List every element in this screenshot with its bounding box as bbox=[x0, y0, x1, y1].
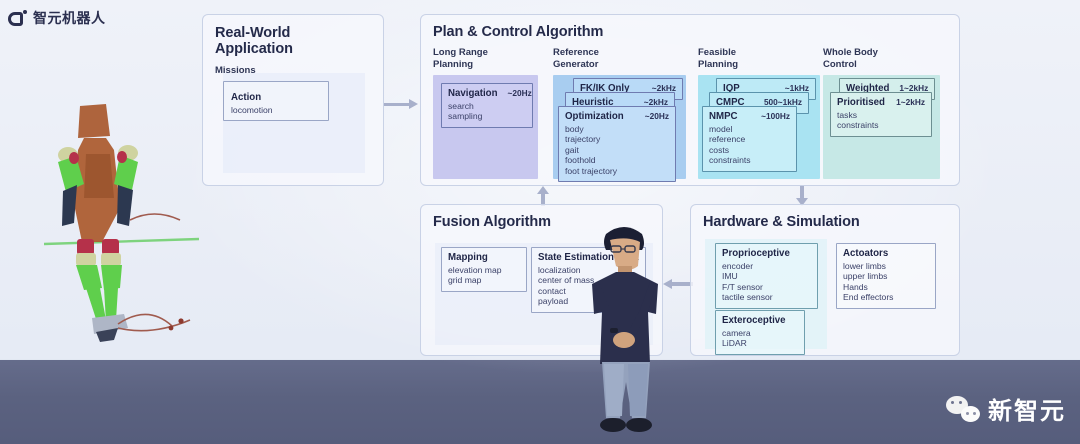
box-hz-prioritised: 1~2kHz bbox=[886, 97, 925, 107]
list-item: upper limbs bbox=[843, 271, 929, 281]
list-item: Hands bbox=[843, 282, 929, 292]
box-action[interactable]: Action locomotion bbox=[223, 81, 329, 121]
list-item: End effectors bbox=[843, 292, 929, 302]
panel-real-world-application: Real-World Application Missions Action l… bbox=[202, 14, 384, 186]
box-items-navigation: search sampling bbox=[448, 101, 526, 122]
box-items-mapping: elevation map grid map bbox=[448, 265, 520, 286]
box-hz-navigation: ~20Hz bbox=[498, 88, 532, 98]
panel-title-plan-control: Plan & Control Algorithm bbox=[433, 24, 947, 40]
box-items-exteroceptive: camera LiDAR bbox=[722, 328, 798, 349]
column-label-reference-generator: Reference Generator bbox=[553, 47, 599, 70]
wechat-icon bbox=[946, 396, 980, 422]
brand-logo: 智元机器人 bbox=[8, 8, 106, 28]
list-item: model bbox=[709, 124, 790, 134]
logo-mark-icon bbox=[8, 11, 27, 26]
list-item: gait bbox=[565, 145, 669, 155]
panel-plan-control-algorithm: Plan & Control Algorithm Long Range Plan… bbox=[420, 14, 960, 186]
column-label-feasible-planning: Feasible Planning bbox=[698, 47, 738, 70]
list-item: tasks bbox=[837, 110, 925, 120]
box-nmpc[interactable]: NMPC ~100Hz model reference costs constr… bbox=[702, 106, 797, 172]
list-item: trajectory bbox=[565, 134, 669, 144]
box-title-action: Action bbox=[231, 92, 261, 103]
list-item: sampling bbox=[448, 111, 526, 121]
humanoid-robot-illustration bbox=[44, 92, 199, 342]
list-item: constraints bbox=[709, 155, 790, 165]
list-item: constraints bbox=[837, 120, 925, 130]
box-hz-optimization: ~20Hz bbox=[635, 111, 669, 121]
list-item: lower limbs bbox=[843, 261, 929, 271]
box-title-actoators: Actoators bbox=[843, 248, 888, 259]
list-item: reference bbox=[709, 134, 790, 144]
list-item: LiDAR bbox=[722, 338, 798, 348]
box-mapping[interactable]: Mapping elevation map grid map bbox=[441, 247, 527, 292]
list-item: costs bbox=[709, 145, 790, 155]
box-items-action: locomotion bbox=[231, 105, 321, 115]
list-item: IMU bbox=[722, 271, 811, 281]
box-hz-nmpc: ~100Hz bbox=[751, 111, 790, 121]
brand-name: 智元机器人 bbox=[33, 8, 106, 28]
list-item: foot trajectory bbox=[565, 166, 669, 176]
box-title-proprioceptive: Proprioceptive bbox=[722, 248, 790, 259]
box-title-mapping: Mapping bbox=[448, 252, 488, 263]
list-item: tactile sensor bbox=[722, 292, 811, 302]
panel-title-hardware: Hardware & Simulation bbox=[703, 214, 947, 230]
box-exteroceptive[interactable]: Exteroceptive camera LiDAR bbox=[715, 310, 805, 355]
box-items-optimization: body trajectory gait foothold foot traje… bbox=[565, 124, 669, 176]
presentation-stage: 智元机器人 bbox=[0, 0, 1080, 444]
list-item: elevation map bbox=[448, 265, 520, 275]
watermark-text: 新智元 bbox=[988, 391, 1066, 426]
box-title-navigation: Navigation bbox=[448, 88, 498, 99]
wechat-watermark: 新智元 bbox=[946, 391, 1066, 426]
panel-hardware-simulation: Hardware & Simulation Proprioceptive enc… bbox=[690, 204, 960, 356]
list-item: F/T sensor bbox=[722, 282, 811, 292]
box-prioritised[interactable]: Prioritised 1~2kHz tasks constraints bbox=[830, 92, 932, 137]
list-item: foothold bbox=[565, 155, 669, 165]
list-item: grid map bbox=[448, 275, 520, 285]
box-actoators[interactable]: Actoators lower limbs upper limbs Hands … bbox=[836, 243, 936, 309]
box-items-proprioceptive: encoder IMU F/T sensor tactile sensor bbox=[722, 261, 811, 303]
column-label-whole-body-control: Whole Body Control bbox=[823, 47, 878, 70]
list-item: locomotion bbox=[231, 105, 321, 115]
column-label-long-range-planning: Long Range Planning bbox=[433, 47, 488, 70]
list-item: search bbox=[448, 101, 526, 111]
box-title-nmpc: NMPC bbox=[709, 111, 738, 122]
box-items-prioritised: tasks constraints bbox=[837, 110, 925, 131]
box-items-actoators: lower limbs upper limbs Hands End effect… bbox=[843, 261, 929, 303]
box-proprioceptive[interactable]: Proprioceptive encoder IMU F/T sensor ta… bbox=[715, 243, 818, 309]
box-title-prioritised: Prioritised bbox=[837, 97, 885, 108]
stage-floor bbox=[0, 360, 1080, 444]
box-navigation[interactable]: Navigation ~20Hz search sampling bbox=[441, 83, 533, 128]
list-item: camera bbox=[722, 328, 798, 338]
arrow-fusion-to-plan bbox=[537, 186, 549, 206]
box-items-nmpc: model reference costs constraints bbox=[709, 124, 790, 166]
list-item: encoder bbox=[722, 261, 811, 271]
arrow-realworld-to-plan bbox=[384, 99, 420, 109]
arrow-plan-to-hardware bbox=[796, 186, 808, 206]
box-title-optimization: Optimization bbox=[565, 111, 624, 122]
presenter-person bbox=[566, 218, 686, 444]
box-optimization[interactable]: Optimization ~20Hz body trajectory gait … bbox=[558, 106, 676, 182]
list-item: body bbox=[565, 124, 669, 134]
panel-title-real-world: Real-World Application bbox=[215, 25, 371, 57]
box-title-exteroceptive: Exteroceptive bbox=[722, 315, 786, 326]
